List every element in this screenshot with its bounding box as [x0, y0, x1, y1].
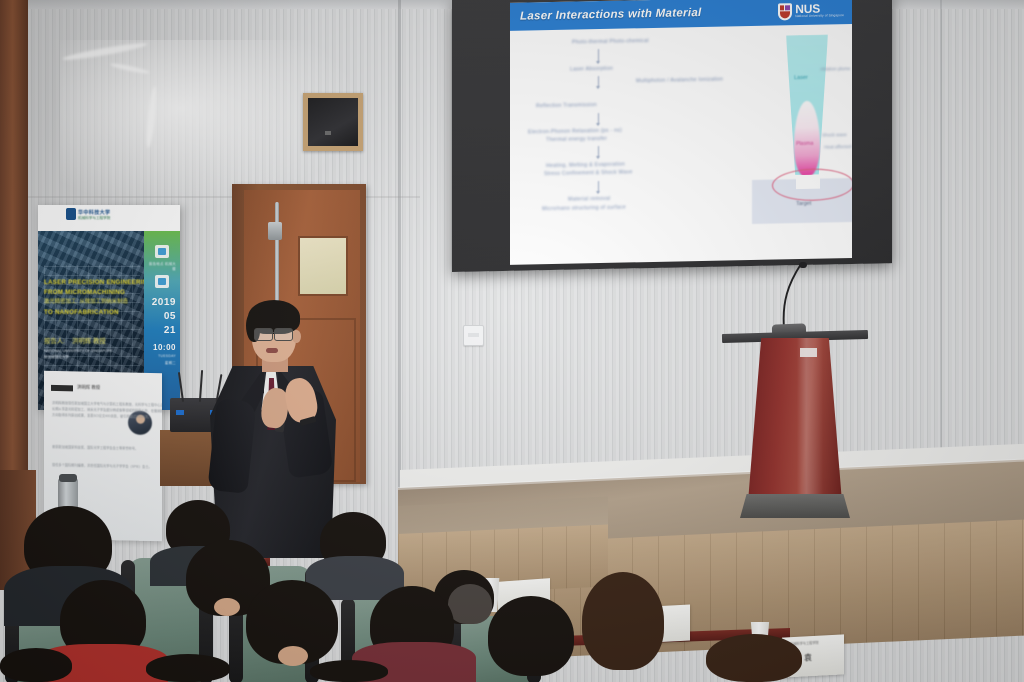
bio-paragraph: 方向取得系列原创成果，发表SCI论文400余篇，被引用超过20000次。 — [52, 413, 151, 419]
audience-nape — [278, 646, 308, 666]
slide-title: Laser Interactions with Material — [520, 7, 702, 23]
poster-title-line1: LASER PRECISION ENGINEERING — [44, 279, 153, 287]
thermos-cap — [59, 474, 77, 482]
poster-year: 2019 — [146, 297, 176, 308]
audience-head-long-hair — [706, 634, 802, 682]
bio-paragraph: 现任多个国际期刊编委，并担任国际光学与光子学学会（SPIE）会士。 — [52, 463, 152, 469]
av-display — [176, 410, 184, 415]
nus-logo: NUS National University of Singapore — [778, 2, 844, 20]
poster-side-badge: 报告地点 机械大楼 — [146, 261, 176, 271]
speaker-led — [325, 131, 331, 135]
wall-socket-icon — [463, 325, 484, 346]
speaker-grill — [308, 98, 358, 146]
audience-head — [488, 596, 574, 676]
projection-screen: Laser Interactions with Material NUS Nat… — [452, 0, 892, 272]
audience-head — [310, 660, 388, 682]
flow-step: Electron-Phonon Relaxation (ps - ns) — [528, 128, 622, 136]
flow-step: Photo-thermal Photo-chemical — [572, 38, 649, 46]
lecture-hall-photo: Laser Interactions with Material NUS Nat… — [0, 0, 1024, 682]
poster-badge-icon — [155, 245, 169, 258]
poster-title-cn: 激光精密加工: 从微加工到纳米制造 — [44, 299, 128, 306]
bio-paragraph: 曾获新加坡国家科技奖、国际光学工程学会会士等荣誉称号。 — [52, 445, 138, 451]
flow-arrow — [598, 49, 599, 63]
audience-head-long-hair — [582, 572, 664, 670]
presentation-slide: Laser Interactions with Material NUS Nat… — [510, 0, 852, 265]
name-card-name: 袁 — [804, 652, 812, 663]
bio-speaker-name: 洪明辉 教授 — [77, 384, 100, 390]
door-vision-panel — [298, 236, 348, 296]
wall-seam — [940, 0, 942, 470]
flow-step: Material removal — [568, 196, 610, 203]
flow-step: Micro/nano structuring of surface — [542, 205, 626, 213]
presenter-ear — [292, 330, 301, 343]
wall-speaker-icon — [303, 93, 363, 151]
flow-arrow — [598, 113, 599, 125]
glasses-lens-left — [254, 328, 273, 341]
university-dept: 机械科学与工程学院 — [78, 216, 110, 221]
poster-speaker-name: 洪明辉 教授 — [72, 338, 106, 345]
flow-step: Laser Absorption — [570, 66, 613, 73]
flow-step: Stress Confinement & Shock Wave — [544, 169, 633, 177]
diagram-note: Ablation plume — [820, 66, 850, 72]
podium-label-card — [800, 348, 817, 357]
laser-label: Laser — [794, 75, 808, 81]
flow-arrow — [598, 181, 599, 193]
target-label: Target — [796, 201, 811, 207]
flow-arrow — [598, 146, 599, 158]
poster-header: 华中科技大学 机械科学与工程学院 — [38, 205, 180, 231]
diagram-note: Shock wave — [822, 132, 847, 138]
audience-head — [0, 648, 72, 682]
presenter-mouth — [266, 348, 278, 353]
poster-speaker-affiliation-cn: 新加坡国立大学 — [44, 355, 69, 360]
audience-head-gray — [448, 584, 492, 624]
poster-weekday: TUESDAY — [146, 354, 176, 358]
bio-tag-badge — [51, 385, 73, 391]
flow-step: Reflection Transmission — [536, 102, 597, 109]
podium-base — [740, 494, 850, 518]
flow-step: Thermal energy transfer — [546, 136, 607, 143]
laser-material-diagram: Laser Plasma Target Ablation plume Shock… — [746, 27, 852, 226]
poster-weekday-cn: 星期二 — [146, 360, 176, 365]
poster-speaker-label: 报告人: — [44, 338, 65, 345]
diagram-note: Heat affected zone — [824, 144, 852, 150]
poster-speaker-affiliation: NATIONAL UNIVERSITY OF SINGAPORE — [44, 349, 112, 354]
poster-title-line2: FROM MICROMACHINING — [44, 289, 125, 297]
microphone-head-icon — [799, 262, 807, 268]
door-lock-icon[interactable] — [268, 222, 282, 240]
slide-body: Photo-thermal Photo-chemical Laser Absor… — [510, 24, 852, 265]
plasma-label: Plasma — [796, 141, 813, 147]
poster-badge-icon — [155, 275, 169, 288]
flow-step: Multiphoton / Avalanche Ionization — [636, 77, 723, 85]
poster-time: 10:00 — [146, 343, 176, 352]
flow-step: Heating, Melting & Evaporation — [546, 162, 625, 170]
poster-day: 21 — [146, 325, 176, 336]
university-crest-icon — [66, 208, 76, 220]
podium-highlight — [748, 338, 842, 502]
wall-seam — [398, 0, 401, 500]
poster-title-line3: TO NANOFABRICATION — [44, 309, 119, 317]
flow-arrow — [598, 76, 599, 88]
microphone-gooseneck — [780, 258, 804, 328]
glasses-lens-right — [274, 328, 293, 341]
glasses-bridge — [271, 332, 275, 333]
poster-month: 05 — [146, 311, 176, 322]
audience-head — [146, 654, 230, 682]
university-name: 华中科技大学 — [78, 209, 110, 216]
left-door-frame — [0, 0, 28, 500]
nus-subtext: National University of Singapore — [795, 14, 844, 19]
audience-nape — [214, 598, 240, 616]
nus-shield-icon — [778, 3, 792, 20]
